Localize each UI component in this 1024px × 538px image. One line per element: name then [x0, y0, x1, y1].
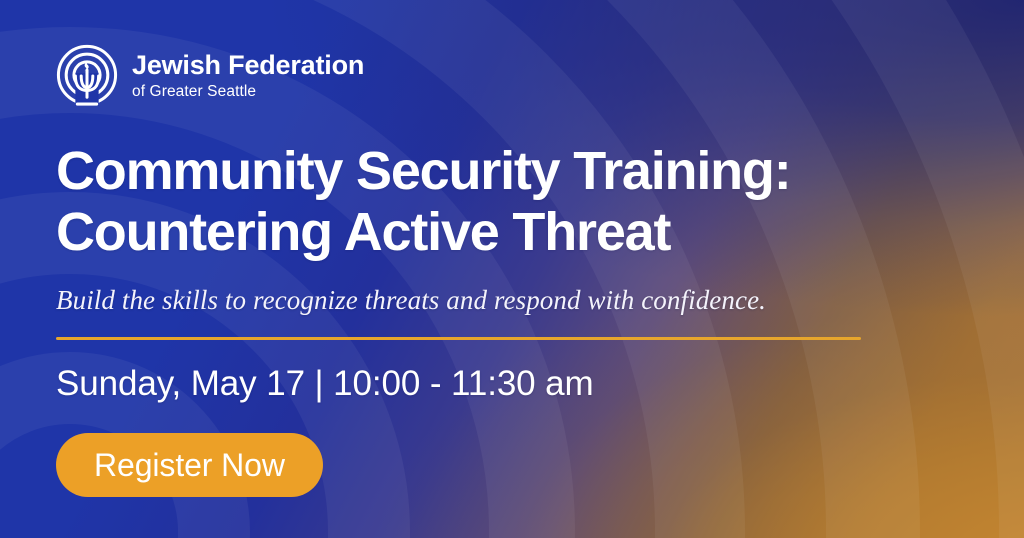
logo-locality: of Greater Seattle [132, 84, 364, 100]
menorah-in-concentric-circles-icon [56, 44, 118, 106]
cta-row: Register Now [56, 433, 1024, 497]
subtitle: Build the skills to recognize threats an… [56, 285, 1024, 316]
gold-divider [56, 337, 861, 340]
banner-content: Jewish Federation of Greater Seattle Com… [0, 0, 1024, 538]
event-datetime: Sunday, May 17 | 10:00 - 11:30 am [56, 364, 1024, 404]
event-promo-banner: Jewish Federation of Greater Seattle Com… [0, 0, 1024, 538]
register-now-button[interactable]: Register Now [56, 433, 323, 497]
headline-line-1: Community Security Training: [56, 141, 1024, 202]
logo-wordmark: Jewish Federation of Greater Seattle [132, 50, 364, 100]
organization-logo[interactable]: Jewish Federation of Greater Seattle [56, 44, 1024, 106]
page-title: Community Security Training: Countering … [56, 141, 1024, 263]
headline-line-2: Countering Active Threat [56, 202, 1024, 263]
logo-organization-name: Jewish Federation [132, 52, 364, 79]
